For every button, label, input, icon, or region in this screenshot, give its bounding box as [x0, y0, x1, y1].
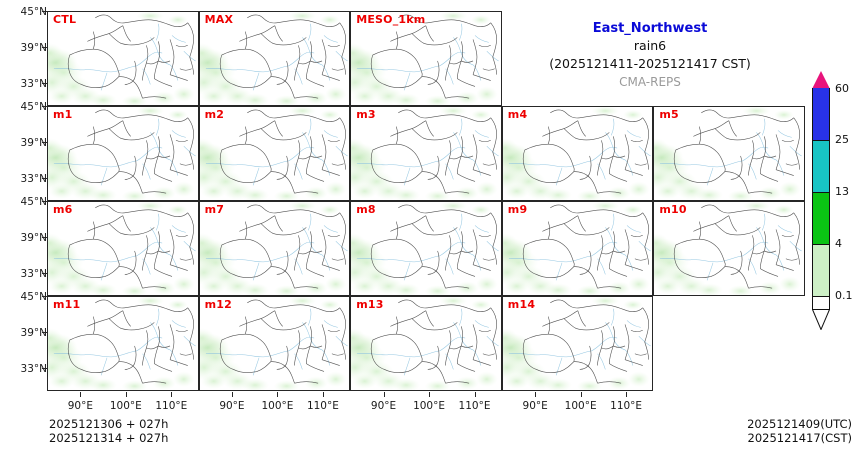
- y-axis: 45°N 39°N 33°N 45°N 39°N 33°N 45°N 39°N …: [0, 0, 47, 400]
- model-title: CMA-REPS: [500, 73, 800, 91]
- colorbar-arrow-top-icon: [812, 71, 830, 89]
- panel-label: m3: [356, 109, 376, 121]
- x-tick-mark: [277, 392, 278, 397]
- y-tick-label: 39°N: [5, 43, 47, 53]
- y-tick-label: 45°N: [5, 102, 47, 112]
- map-panel-m2[interactable]: m2: [199, 106, 351, 201]
- panel-label: m8: [356, 204, 376, 216]
- y-tick-label: 45°N: [5, 7, 47, 17]
- period-title: (2025121411-2025121417 CST): [500, 55, 800, 73]
- map-panel-m13[interactable]: m13: [350, 296, 502, 391]
- x-tick-mark: [80, 392, 81, 397]
- panel-label: m12: [205, 299, 232, 311]
- panel-label: MESO_1km: [356, 14, 425, 26]
- panel-label: m7: [205, 204, 225, 216]
- colorbar-segment-under-0.1: [812, 296, 830, 310]
- panel-label: MAX: [205, 14, 234, 26]
- y-tick-label: 39°N: [5, 328, 47, 338]
- x-tick-label: 100°E: [103, 400, 149, 412]
- panel-label: m6: [53, 204, 73, 216]
- map-panel-m8[interactable]: m8: [350, 201, 502, 296]
- x-tick-label: 100°E: [254, 400, 300, 412]
- panel-label: m1: [53, 109, 73, 121]
- panel-label: m10: [659, 204, 686, 216]
- map-panel-m5[interactable]: m5: [653, 106, 805, 201]
- colorbar-arrow-bottom-icon: [812, 309, 830, 330]
- y-tick-label: 33°N: [5, 79, 47, 89]
- panel-label: m2: [205, 109, 225, 121]
- colorbar-tick-label: 60: [835, 83, 849, 94]
- map-panel-m10[interactable]: m10: [653, 201, 805, 296]
- colorbar-tick-label: 25: [835, 134, 849, 145]
- panel-label: m14: [508, 299, 535, 311]
- map-panel-max[interactable]: MAX: [199, 11, 351, 106]
- map-panel-meso_1km[interactable]: MESO_1km: [350, 11, 502, 106]
- map-panel-m6[interactable]: m6: [47, 201, 199, 296]
- x-tick-label: 110°E: [452, 400, 498, 412]
- map-panel-m4[interactable]: m4: [502, 106, 654, 201]
- x-tick-mark: [384, 392, 385, 397]
- map-panel-m1[interactable]: m1: [47, 106, 199, 201]
- title-block: East_Northwest rain6 (2025121411-2025121…: [500, 20, 800, 91]
- footer-right-line-2: 2025121417(CST): [747, 431, 852, 445]
- colorbar-body: [812, 88, 830, 310]
- map-panel-m9[interactable]: m9: [502, 201, 654, 296]
- colorbar: 60251340.1: [812, 71, 858, 341]
- panel-row: m6: [47, 201, 805, 296]
- footer-left-line-1: 2025121306 + 027h: [49, 417, 168, 431]
- x-tick-mark: [581, 392, 582, 397]
- y-tick-label: 33°N: [5, 364, 47, 374]
- x-tick-mark: [126, 392, 127, 397]
- x-tick-label: 90°E: [209, 400, 255, 412]
- x-tick-label: 100°E: [558, 400, 604, 412]
- x-tick-label: 110°E: [300, 400, 346, 412]
- footer-left-line-2: 2025121314 + 027h: [49, 431, 168, 445]
- y-tick-label: 33°N: [5, 174, 47, 184]
- colorbar-segment-25-60: [812, 88, 830, 140]
- panel-label: m4: [508, 109, 528, 121]
- panel-empty-slot: [653, 296, 805, 391]
- variable-title: rain6: [500, 37, 800, 55]
- map-panel-m3[interactable]: m3: [350, 106, 502, 201]
- x-tick-label: 100°E: [406, 400, 452, 412]
- y-tick-label: 39°N: [5, 233, 47, 243]
- x-tick-mark: [429, 392, 430, 397]
- y-tick-label: 39°N: [5, 138, 47, 148]
- map-panel-m12[interactable]: m12: [199, 296, 351, 391]
- panel-row: m11: [47, 296, 805, 391]
- x-tick-mark: [535, 392, 536, 397]
- map-panel-m14[interactable]: m14: [502, 296, 654, 391]
- x-tick-label: 90°E: [57, 400, 103, 412]
- colorbar-tick-label: 13: [835, 186, 849, 197]
- footer-right-line-1: 2025121409(UTC): [747, 417, 852, 431]
- y-tick-label: 45°N: [5, 197, 47, 207]
- panel-label: m13: [356, 299, 383, 311]
- colorbar-tick-label: 4: [835, 238, 842, 249]
- x-tick-mark: [323, 392, 324, 397]
- panel-label: m11: [53, 299, 80, 311]
- panel-row: m1: [47, 106, 805, 201]
- map-panel-m11[interactable]: m11: [47, 296, 199, 391]
- x-axis: 90°E100°E110°E90°E100°E110°E90°E100°E110…: [47, 392, 805, 416]
- page-title: East_Northwest: [500, 20, 800, 37]
- x-tick-label: 90°E: [361, 400, 407, 412]
- panel-label: m5: [659, 109, 679, 121]
- colorbar-segment-0.1-4: [812, 244, 830, 296]
- footer-right: 2025121409(UTC) 2025121417(CST): [747, 417, 852, 445]
- x-tick-label: 110°E: [603, 400, 649, 412]
- footer-left: 2025121306 + 027h 2025121314 + 027h: [49, 417, 168, 445]
- x-tick-label: 90°E: [512, 400, 558, 412]
- x-tick-label: 110°E: [148, 400, 194, 412]
- y-tick-label: 33°N: [5, 269, 47, 279]
- x-tick-mark: [475, 392, 476, 397]
- x-tick-mark: [232, 392, 233, 397]
- y-tick-label: 45°N: [5, 292, 47, 302]
- colorbar-tick-label: 0.1: [835, 290, 853, 301]
- colorbar-segment-4-13: [812, 192, 830, 244]
- x-tick-mark: [171, 392, 172, 397]
- map-panel-ctl[interactable]: CTL: [47, 11, 199, 106]
- panel-label: CTL: [53, 14, 76, 26]
- map-panel-m7[interactable]: m7: [199, 201, 351, 296]
- colorbar-segment-13-25: [812, 140, 830, 192]
- x-tick-mark: [626, 392, 627, 397]
- panel-label: m9: [508, 204, 528, 216]
